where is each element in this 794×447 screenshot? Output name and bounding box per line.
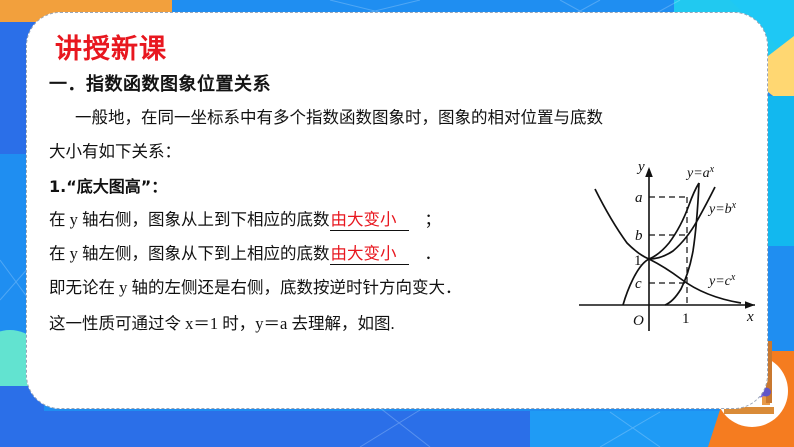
rule-right-side-line: 在 y 轴右侧，图象从上到下相应的底数由大变小；	[49, 212, 441, 231]
rule-left-suffix: ．	[425, 244, 442, 263]
svg-text:y=cx: y=cx	[707, 272, 736, 289]
y-axis-arrow	[645, 167, 653, 177]
rule-right-suffix: ；	[425, 210, 442, 229]
label-c: c	[635, 276, 642, 292]
rule-left-prefix: 在 y 轴左侧，图象从下到上相应的底数	[49, 244, 330, 263]
curve-a-exponent: x	[709, 164, 715, 175]
curve-b-exponent: x	[731, 200, 737, 211]
slide-root: 讲授新课 一．指数函数图象位置关系 一般地，在同一坐标系中有多个指数函数图象时，…	[0, 0, 794, 447]
curve-c-name: y=c	[707, 274, 732, 289]
svg-text:y=ax: y=ax	[685, 164, 715, 181]
svg-text:y=bx: y=bx	[707, 200, 737, 217]
content-card: 讲授新课 一．指数函数图象位置关系 一般地，在同一坐标系中有多个指数函数图象时，…	[26, 12, 768, 409]
label-b: b	[635, 228, 643, 244]
point-1-heading: 1.“底大图高”：	[49, 179, 167, 195]
conclusion-line: 即无论在 y 轴的左侧还是右侧，底数按逆时针方向变大．	[49, 280, 462, 297]
curve-label-a: y=ax	[685, 164, 715, 181]
curve-a-name: y=a	[685, 166, 710, 181]
section-heading: 一．指数函数图象位置关系	[49, 70, 271, 96]
label-a: a	[635, 190, 643, 206]
hint-line: 这一性质可通过令 x＝1 时，y＝a 去理解，如图.	[49, 316, 395, 333]
label-axis-y: y	[636, 159, 645, 175]
curve-b-name: y=b	[707, 202, 732, 217]
exponential-functions-graph: a b c 1 1 O y x y=ax y=bx	[565, 155, 761, 341]
intro-paragraph-line-2: 大小有如下关系：	[49, 144, 181, 161]
label-axis-x: x	[746, 309, 754, 325]
curve-a-through-one	[649, 183, 699, 259]
label-y-one: 1	[634, 253, 642, 269]
rule-right-prefix: 在 y 轴右侧，图象从上到下相应的底数	[49, 210, 330, 229]
rule-left-side-line: 在 y 轴左侧，图象从下到上相应的底数由大变小．	[49, 246, 441, 265]
curve-c-exponent: x	[730, 272, 736, 283]
page-title: 讲授新课	[55, 27, 167, 66]
rule-right-answer-blank[interactable]: 由大变小	[330, 212, 409, 231]
rule-left-answer-blank[interactable]: 由大变小	[330, 246, 409, 265]
label-x-one: 1	[682, 311, 690, 327]
label-origin: O	[633, 313, 644, 329]
x-axis-arrow	[745, 301, 755, 309]
curve-label-b: y=bx	[707, 200, 737, 217]
curve-label-c: y=cx	[707, 272, 736, 289]
intro-paragraph-line-1: 一般地，在同一坐标系中有多个指数函数图象时，图象的相对位置与底数	[75, 110, 603, 127]
